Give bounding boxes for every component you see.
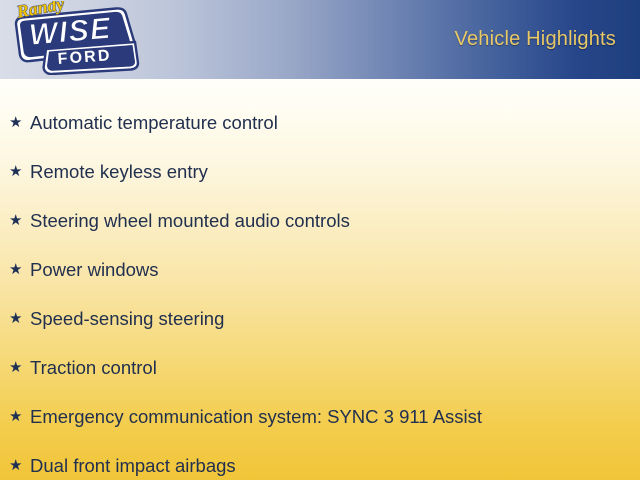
highlights-content: ★ Automatic temperature control ★ Remote… — [0, 79, 640, 480]
list-item: ★ Remote keyless entry — [0, 147, 640, 196]
list-item-label: Automatic temperature control — [30, 112, 278, 133]
vehicle-highlights-list: ★ Automatic temperature control ★ Remote… — [0, 79, 640, 480]
list-item: ★ Traction control — [0, 343, 640, 392]
list-item-label: Traction control — [30, 357, 157, 378]
list-item: ★ Dual front impact airbags — [0, 441, 640, 480]
star-bullet-icon: ★ — [9, 164, 30, 179]
list-item-label: Emergency communication system: SYNC 3 9… — [30, 406, 482, 427]
star-bullet-icon: ★ — [9, 115, 30, 130]
star-bullet-icon: ★ — [9, 458, 30, 473]
list-item-label: Steering wheel mounted audio controls — [30, 210, 350, 231]
list-item: ★ Power windows — [0, 245, 640, 294]
star-bullet-icon: ★ — [9, 262, 30, 277]
star-bullet-icon: ★ — [9, 409, 30, 424]
list-item: ★ Automatic temperature control — [0, 98, 640, 147]
list-item: ★ Speed-sensing steering — [0, 294, 640, 343]
list-item: ★ Steering wheel mounted audio controls — [0, 196, 640, 245]
star-bullet-icon: ★ — [9, 311, 30, 326]
list-item-label: Dual front impact airbags — [30, 455, 236, 476]
list-item-label: Remote keyless entry — [30, 161, 208, 182]
list-item-label: Speed-sensing steering — [30, 308, 224, 329]
randy-wise-ford-logo[interactable]: WISE Randy FORD — [4, 1, 140, 75]
list-item-label: Power windows — [30, 259, 159, 280]
vehicle-highlights-page: WISE Randy FORD Vehicle Highlights ★ Aut… — [0, 0, 640, 480]
page-title: Vehicle Highlights — [455, 28, 616, 51]
page-header: WISE Randy FORD Vehicle Highlights — [0, 0, 640, 79]
star-bullet-icon: ★ — [9, 213, 30, 228]
star-bullet-icon: ★ — [9, 360, 30, 375]
list-item: ★ Emergency communication system: SYNC 3… — [0, 392, 640, 441]
